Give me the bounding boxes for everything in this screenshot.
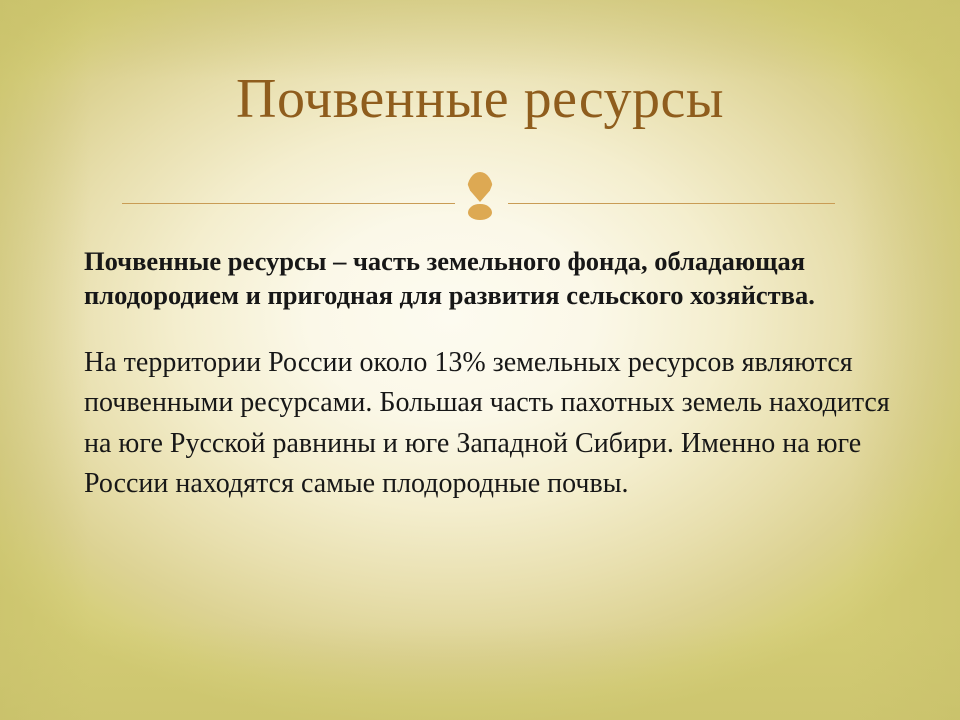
body-paragraph-definition: Почвенные ресурсы – часть земельного фон…	[84, 244, 844, 313]
exclamation-ornament-icon	[466, 172, 494, 222]
slide-body-block: Почвенные ресурсы – часть земельного фон…	[84, 244, 896, 520]
ornament-teardrop-shape	[467, 172, 493, 202]
slide-title-block: Почвенные ресурсы	[0, 70, 960, 129]
divider-rule-left	[122, 203, 455, 204]
slide-content-area: Почвенные ресурсы Почвенные ресурсы – ча…	[0, 0, 960, 720]
title-divider	[0, 196, 960, 222]
presentation-slide: Почвенные ресурсы Почвенные ресурсы – ча…	[0, 0, 960, 720]
body-paragraph-details: На территории России около 13% земельных…	[84, 343, 896, 504]
divider-rule-right	[508, 203, 835, 204]
ornament-dot-shape	[468, 204, 492, 220]
slide-title: Почвенные ресурсы	[0, 70, 960, 129]
